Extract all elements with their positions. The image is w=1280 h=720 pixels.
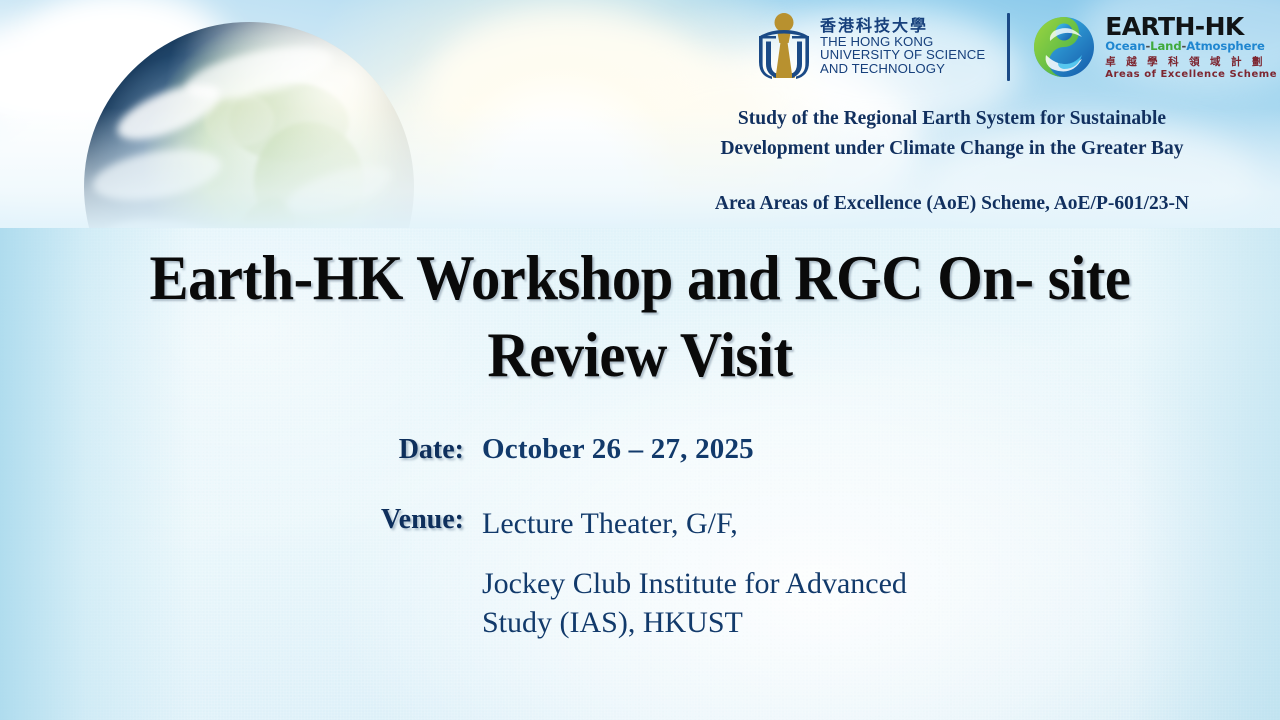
page-title: Earth-HK Workshop and RGC On- site Revie… xyxy=(138,240,1142,394)
logo-divider xyxy=(1007,13,1010,81)
hkust-english-line3: AND TECHNOLOGY xyxy=(820,62,985,76)
venue-line-1: Lecture Theater, G/F, xyxy=(482,504,907,544)
logo-bar: 香港科技大學 THE HONG KONG UNIVERSITY OF SCIEN… xyxy=(758,12,1277,82)
date-value: October 26 – 27, 2025 xyxy=(482,434,754,466)
hkust-wordmark: 香港科技大學 THE HONG KONG UNIVERSITY OF SCIEN… xyxy=(820,18,985,77)
subtitle-line-2: Development under Climate Change in the … xyxy=(652,134,1252,164)
earth-hk-wordmark: EARTH-HK Ocean-Land-Atmosphere 卓 越 學 科 領… xyxy=(1105,14,1277,79)
date-label: Date: xyxy=(0,434,482,466)
hkust-english-line2: UNIVERSITY OF SCIENCE xyxy=(820,48,985,62)
title-line-1: Earth-HK Workshop and RGC On- xyxy=(150,243,1034,313)
project-subtitle: Study of the Regional Earth System for S… xyxy=(652,104,1252,219)
earth-hk-chinese-scheme: 卓 越 學 科 領 域 計 劃 xyxy=(1105,57,1277,68)
header-banner: 香港科技大學 THE HONG KONG UNIVERSITY OF SCIEN… xyxy=(0,0,1280,228)
earth-hk-scheme-label: Areas of Excellence Scheme xyxy=(1105,70,1277,80)
date-row: Date: October 26 – 27, 2025 xyxy=(0,434,1280,466)
venue-label: Venue: xyxy=(0,504,482,536)
poster-slide: 香港科技大學 THE HONG KONG UNIVERSITY OF SCIEN… xyxy=(0,0,1280,720)
tagline-atmosphere: Atmosphere xyxy=(1186,39,1264,53)
venue-line-2b: Study (IAS), HKUST xyxy=(482,603,907,643)
event-details: Date: October 26 – 27, 2025 Venue: Lectu… xyxy=(0,434,1280,643)
hkust-english-line1: THE HONG KONG xyxy=(820,35,985,49)
venue-line-2: Jockey Club Institute for Advanced Study… xyxy=(482,564,907,643)
subtitle-line-1: Study of the Regional Earth System for S… xyxy=(738,108,1166,129)
venue-value: Lecture Theater, G/F, Jockey Club Instit… xyxy=(482,504,907,643)
venue-row: Venue: Lecture Theater, G/F, Jockey Club… xyxy=(0,504,1280,643)
hkust-emblem-icon xyxy=(758,12,810,82)
venue-line-2a: Jockey Club Institute for Advanced xyxy=(482,564,907,604)
hkust-chinese-name: 香港科技大學 xyxy=(820,18,985,35)
earth-hk-swirl-icon xyxy=(1032,15,1096,79)
subtitle-line-3: Area Areas of Excellence (AoE) Scheme, A… xyxy=(652,189,1252,219)
earth-hk-title: EARTH-HK xyxy=(1105,14,1277,39)
earth-hk-logo: EARTH-HK Ocean-Land-Atmosphere 卓 越 學 科 領… xyxy=(1032,14,1277,79)
tagline-ocean: Ocean xyxy=(1105,39,1145,53)
hkust-logo: 香港科技大學 THE HONG KONG UNIVERSITY OF SCIEN… xyxy=(758,12,985,82)
earth-hk-tagline: Ocean-Land-Atmosphere xyxy=(1105,41,1277,53)
tagline-land: Land xyxy=(1150,39,1181,53)
